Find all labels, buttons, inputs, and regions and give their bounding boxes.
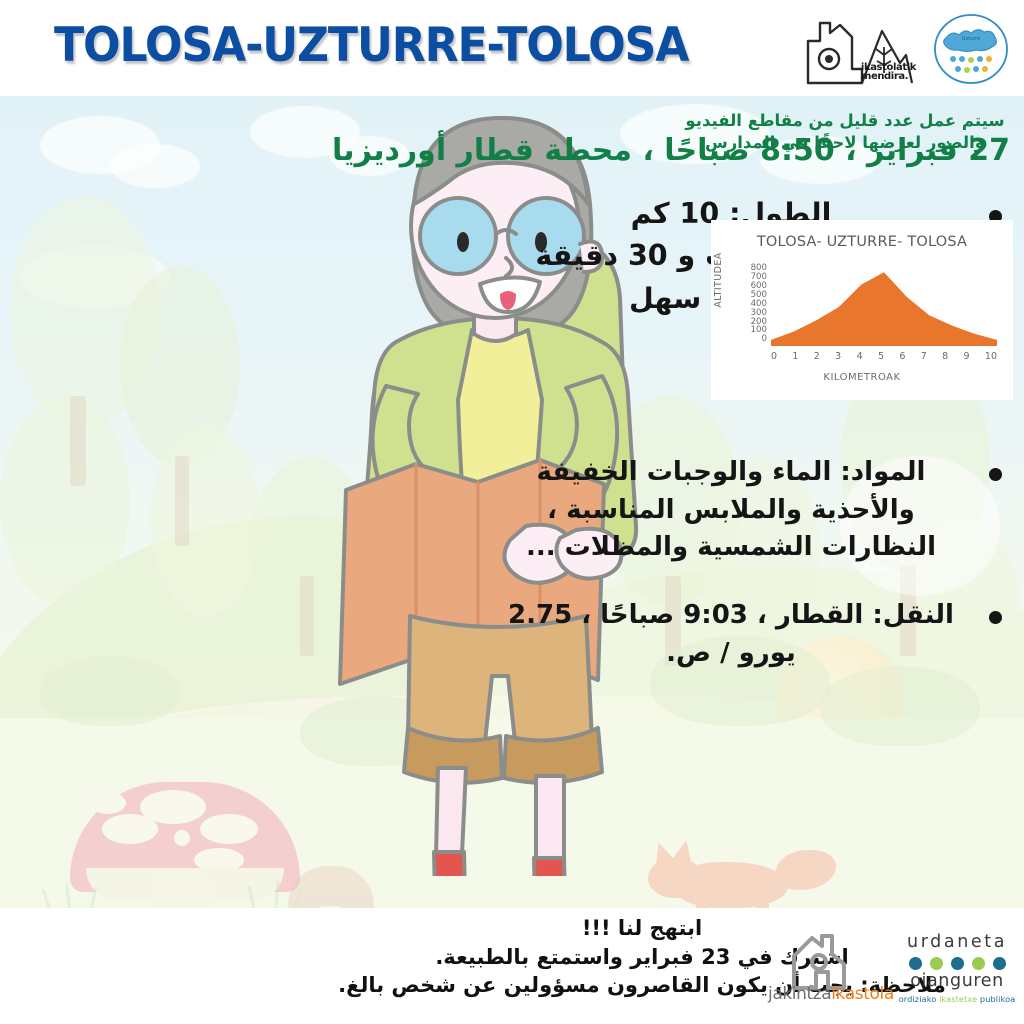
jakintza-ikastola-logo: jakintzaikastola — [772, 928, 882, 1008]
tagline-part-3: publikoa — [980, 994, 1015, 1004]
chart-plot-area — [771, 264, 997, 346]
x-tick: 6 — [899, 351, 905, 362]
y-tick: 400 — [751, 300, 767, 309]
blue-circle-icon: Uzturre — [932, 12, 1010, 86]
chart-title: TOLOSA- UZTURRE- TOLOSA — [711, 234, 1013, 250]
x-tick: 5 — [878, 351, 884, 362]
x-tick: 4 — [857, 351, 863, 362]
urdaneta-oianguren-logo: urdaneta oianguren ordiziako ikastetxe p… — [898, 928, 1016, 1008]
logo-dot — [972, 957, 985, 970]
y-tick: 0 — [762, 335, 767, 344]
footer-bar: ابتهج لنا !!! اشترك في 23 فبراير واستمتع… — [0, 908, 1024, 1024]
jakintza-house-icon — [788, 930, 880, 992]
elevation-area-svg — [771, 264, 997, 346]
urdaneta-tagline: ordiziako ikastetxe publikoa — [898, 994, 1016, 1004]
list-item: النقل: القطار ، 9:03 صباحًا ، 2.75 يورو … — [492, 597, 970, 672]
chart-x-axis-label: KILOMETROAK — [711, 372, 1013, 383]
urdaneta-word: urdaneta — [898, 934, 1016, 952]
date-time-location: 27 فبراير ، 8:50 صباحًا ، محطة قطار أورد… — [342, 132, 1010, 170]
tagline-part-1: ordiziako — [899, 994, 939, 1004]
elevation-chart-panel: TOLOSA- UZTURRE- TOLOSA ALTITUDEA 800 70… — [711, 220, 1013, 400]
x-tick: 9 — [964, 351, 970, 362]
x-tick: 8 — [942, 351, 948, 362]
oianguren-word: oianguren — [898, 973, 1016, 991]
jakintza-word: jakintza — [768, 984, 831, 1004]
logo-dot — [930, 957, 943, 970]
jakintza-wordmark: jakintzaikastola — [768, 984, 894, 1004]
y-tick: 300 — [751, 309, 767, 318]
list-item: المواد: الماء والوجبات الخفيفة والأحذية … — [492, 454, 970, 567]
x-tick: 0 — [771, 351, 777, 362]
header-logo-group: ikastolatik mendira. Uzturre — [800, 8, 1010, 90]
ikastolatik-mendira-logo: ikastolatik mendira. — [800, 11, 918, 87]
page-title: TOLOSA-UZTURRE-TOLOSA — [54, 18, 693, 73]
logo-dot — [909, 957, 922, 970]
ikastola-word: ikastola — [831, 984, 894, 1004]
chart-y-tick-labels: 800 700 600 500 400 300 200 100 0 — [733, 264, 767, 344]
x-tick: 7 — [921, 351, 927, 362]
header-bar: TOLOSA-UZTURRE-TOLOSA ikastolatik mendir… — [0, 0, 1024, 96]
footer-logo-group: jakintzaikastola urdaneta oianguren ordi… — [772, 922, 1016, 1014]
x-tick: 2 — [814, 351, 820, 362]
logo-dot — [993, 957, 1006, 970]
urdaneta-dot-row — [898, 957, 1016, 970]
ikastolatik-caption-line2: mendira. — [861, 72, 916, 81]
logo-dot — [951, 957, 964, 970]
chart-x-tick-labels: 0 1 2 3 4 5 6 7 8 9 10 — [771, 351, 997, 362]
poster-root: TOLOSA-UZTURRE-TOLOSA ikastolatik mendir… — [0, 0, 1024, 1024]
x-tick: 10 — [985, 351, 997, 362]
x-tick: 1 — [792, 351, 798, 362]
gear-transport-list: المواد: الماء والوجبات الخفيفة والأحذية … — [492, 454, 1018, 702]
svg-text:Uzturre: Uzturre — [962, 36, 980, 42]
tagline-part-2: ikastetxe — [939, 994, 980, 1004]
blue-circle-logo: Uzturre — [932, 12, 1010, 86]
x-tick: 3 — [835, 351, 841, 362]
ikastolatik-caption: ikastolatik mendira. — [861, 63, 916, 81]
elevation-area-series — [771, 272, 997, 346]
chart-y-axis-label: ALTITUDEA — [713, 252, 724, 307]
